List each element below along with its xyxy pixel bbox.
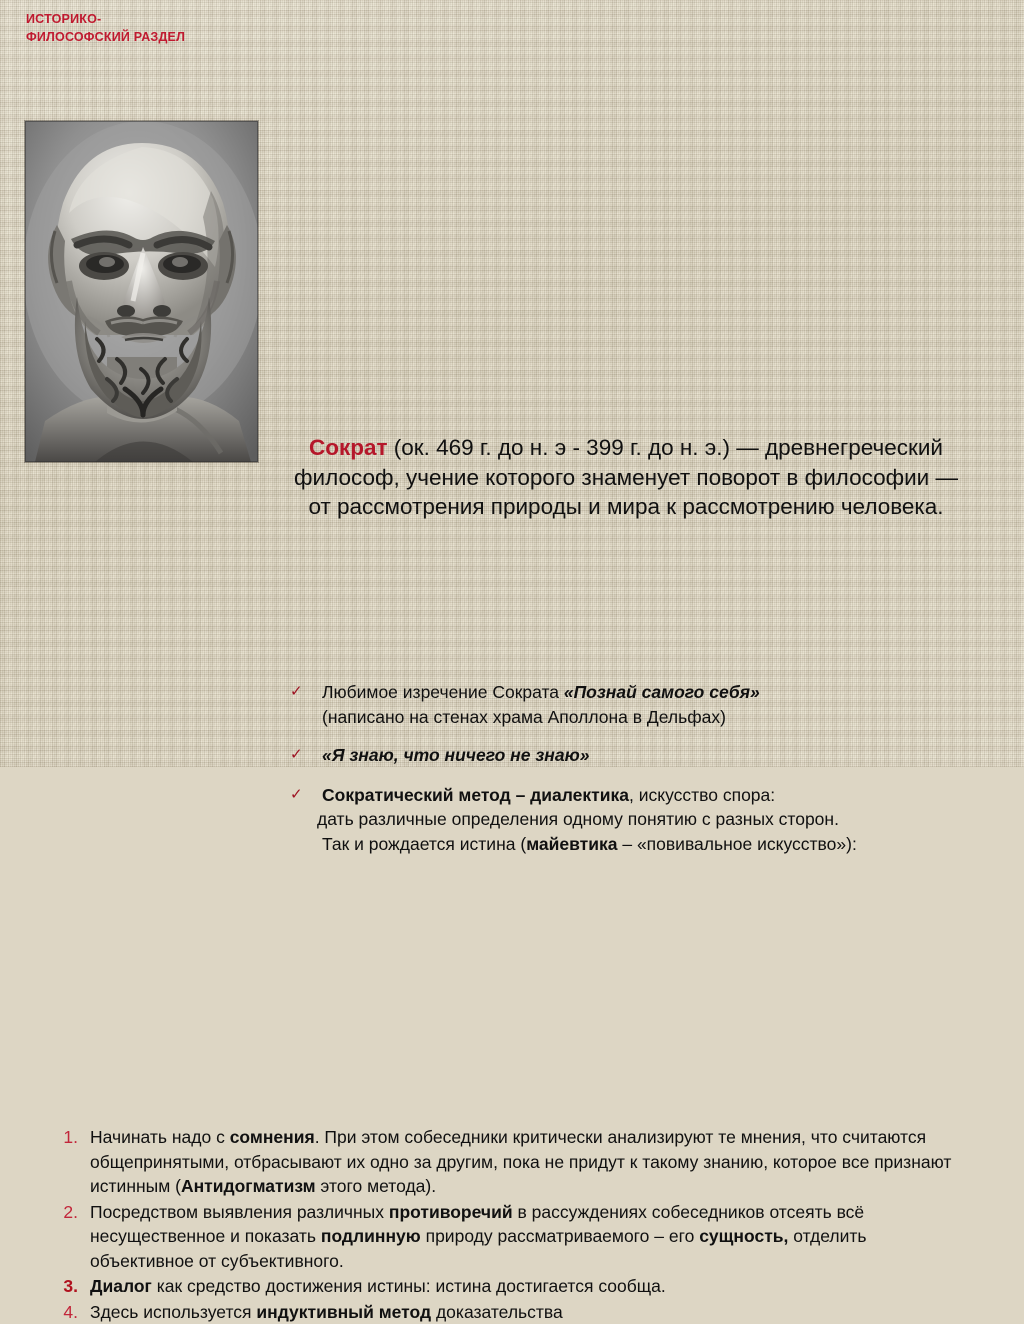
item-2-b3: сущность,: [699, 1226, 788, 1246]
item-3-body: Диалог как средство достижения истины: и…: [90, 1274, 964, 1299]
check-bullet-list: ✓ Любимое изречение Сократа «Познай само…: [286, 680, 966, 857]
check-bullet-item-3: ✓ Сократический метод – диалектика, иску…: [286, 783, 966, 858]
socrates-bust-illustration: [25, 121, 258, 462]
check-icon: ✓: [290, 681, 303, 702]
bullet-1-emphasis: «Познай самого себя»: [564, 682, 760, 702]
numbered-item-3: 3. Диалог как средство достижения истины…: [28, 1274, 964, 1299]
title-rest: (ок. 469 г. до н. э - 399 г. до н. э.) —…: [294, 435, 958, 519]
bullet-1-tail: (написано на стенах храма Аполлона в Дел…: [322, 707, 726, 727]
numbered-item-4: 4. Здесь используется индуктивный метод …: [28, 1300, 964, 1324]
item-2-body: Посредством выявления различных противор…: [90, 1200, 964, 1274]
slide-title: Сократ (ок. 469 г. до н. э - 399 г. до н…: [286, 433, 966, 521]
check-bullet-item-2: ✓ «Я знаю, что ничего не знаю»: [286, 743, 966, 768]
item-3-b1: Диалог: [90, 1276, 152, 1296]
item-2-number: 2.: [50, 1200, 78, 1225]
section-header-line2: ФИЛОСОФСКИЙ РАЗДЕЛ: [26, 28, 266, 46]
item-4-body: Здесь используется индуктивный метод док…: [90, 1300, 964, 1324]
item-1-b1: сомнения: [230, 1127, 315, 1147]
bullet-3-bold-head: Сократический метод – диалектика: [322, 785, 629, 805]
item-4-b1: индуктивный метод: [256, 1302, 431, 1322]
item-1-p1: Начинать надо с: [90, 1127, 230, 1147]
item-1-b2: Антидогматизм: [181, 1176, 316, 1196]
item-2-b2: подлинную: [321, 1226, 421, 1246]
section-header: ИСТОРИКО- ФИЛОСОФСКИЙ РАЗДЕЛ: [26, 10, 266, 46]
item-4-p1: Здесь используется: [90, 1302, 256, 1322]
item-2-p3: природу рассматриваемого – его: [421, 1226, 699, 1246]
item-1-body: Начинать надо с сомнения. При этом собес…: [90, 1125, 964, 1199]
numbered-list: 1. Начинать надо с сомнения. При этом со…: [28, 1125, 964, 1324]
item-1-number: 1.: [50, 1125, 78, 1150]
item-3-number: 3.: [50, 1274, 78, 1299]
bullet-3-body-b-pre: Так и рождается истина (: [322, 834, 526, 854]
item-4-p2: доказательства: [431, 1302, 563, 1322]
bullet-3-body-b-bold: майевтика: [526, 834, 617, 854]
bullet-1-lead: Любимое изречение Сократа: [322, 682, 564, 702]
bullet-3-head-tail: , искусство спора:: [629, 785, 775, 805]
bullet-3-body-a: дать различные определения одному поняти…: [317, 809, 839, 829]
slide-canvas: ИСТОРИКО- ФИЛОСОФСКИЙ РАЗДЕЛ: [0, 0, 1024, 767]
section-header-line1: ИСТОРИКО-: [26, 10, 266, 28]
check-icon: ✓: [290, 744, 303, 765]
socrates-bust-image: [25, 121, 258, 462]
check-bullet-item-1: ✓ Любимое изречение Сократа «Познай само…: [286, 680, 966, 730]
item-2-b1: противоречий: [389, 1202, 513, 1222]
item-2-p1: Посредством выявления различных: [90, 1202, 389, 1222]
item-4-number: 4.: [50, 1300, 78, 1324]
check-icon: ✓: [290, 784, 303, 805]
numbered-item-1: 1. Начинать надо с сомнения. При этом со…: [28, 1125, 964, 1199]
item-1-p3: этого метода).: [316, 1176, 437, 1196]
item-3-p2: как средство достижения истины: истина д…: [152, 1276, 666, 1296]
bullet-2-emphasis: «Я знаю, что ничего не знаю»: [322, 745, 589, 765]
numbered-item-2: 2. Посредством выявления различных проти…: [28, 1200, 964, 1274]
bullet-3-body-b-post: – «повивальное искусство»):: [617, 834, 856, 854]
title-name: Сократ: [309, 435, 388, 460]
